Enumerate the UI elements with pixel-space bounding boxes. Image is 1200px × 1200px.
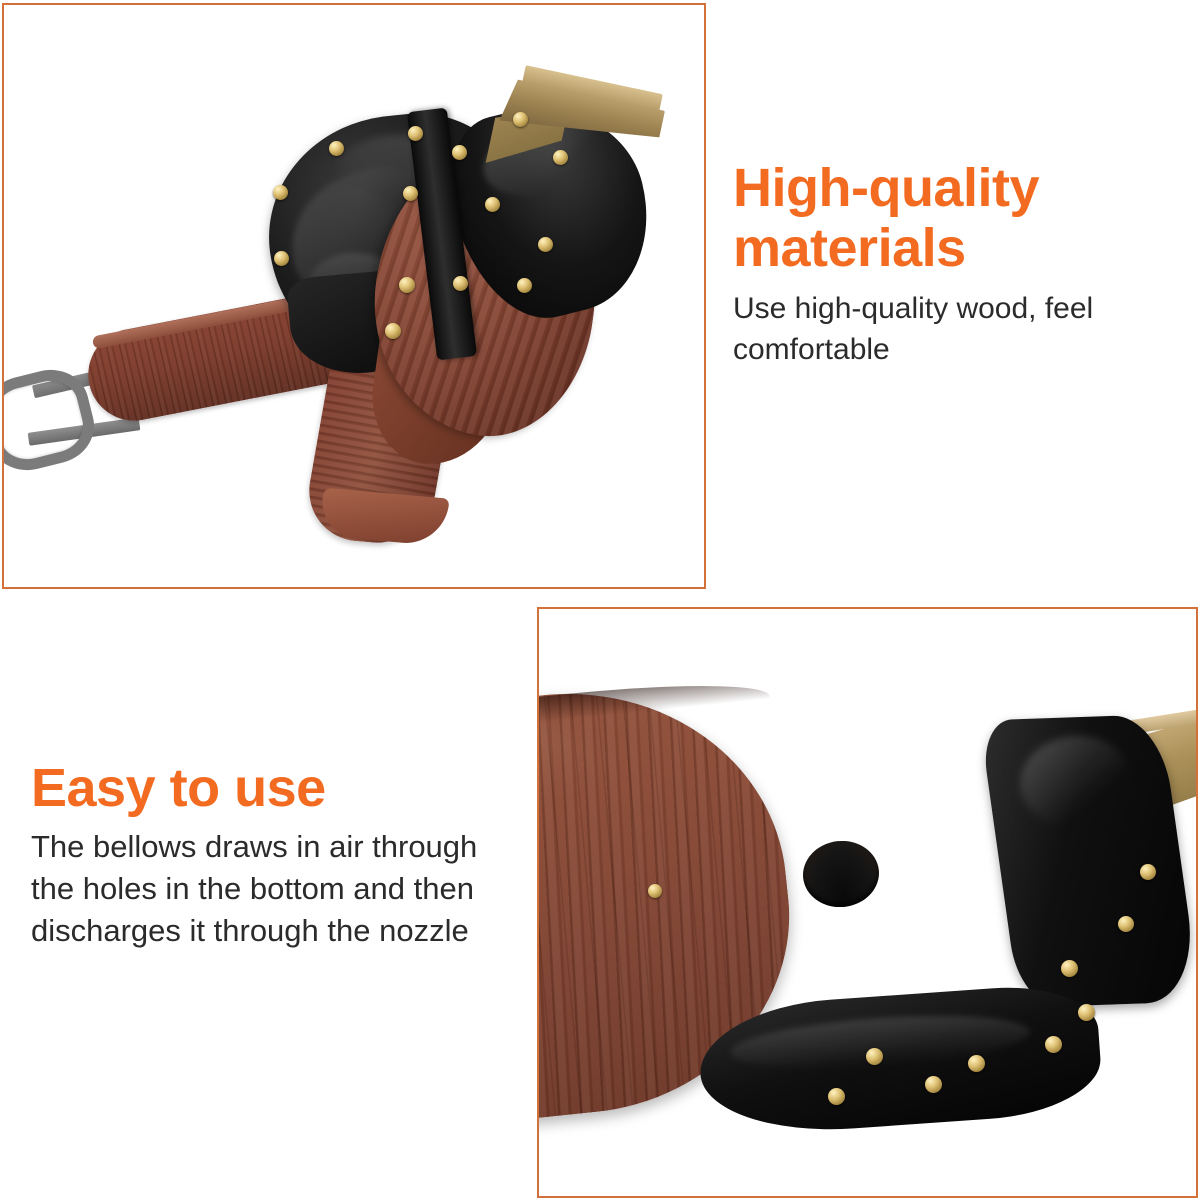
brass-stud bbox=[452, 145, 467, 160]
feature-text-easy-to-use: Easy to use The bellows draws in air thr… bbox=[31, 758, 511, 952]
bellows-back-board-photo bbox=[539, 609, 1196, 1196]
brass-stud bbox=[1045, 1036, 1062, 1053]
bellows-angled-view-photo bbox=[4, 5, 704, 587]
brass-stud bbox=[403, 186, 418, 201]
photo-panel-materials bbox=[2, 3, 706, 589]
feature-text-materials: High-quality materials Use high-quality … bbox=[733, 158, 1173, 370]
infographic-canvas: High-quality materials Use high-quality … bbox=[0, 0, 1200, 1200]
brass-stud bbox=[329, 141, 344, 156]
brass-stud bbox=[866, 1048, 883, 1065]
brass-stud bbox=[925, 1076, 942, 1093]
brass-stud bbox=[399, 277, 415, 293]
brass-stud bbox=[1061, 960, 1078, 977]
brass-stud bbox=[828, 1088, 845, 1105]
brass-stud bbox=[485, 197, 500, 212]
brass-stud bbox=[538, 237, 553, 252]
brass-stud bbox=[385, 323, 401, 339]
brass-stud bbox=[553, 150, 568, 165]
feature-headline-materials: High-quality materials bbox=[733, 158, 1173, 278]
brass-stud bbox=[1140, 864, 1156, 880]
brass-stud bbox=[274, 251, 289, 266]
feature-headline-easy-to-use: Easy to use bbox=[31, 758, 511, 818]
brass-stud bbox=[273, 185, 288, 200]
air-intake-hole bbox=[800, 837, 882, 911]
photo-panel-easy-to-use bbox=[537, 607, 1198, 1198]
wooden-handle-lower-edge bbox=[316, 488, 450, 546]
brass-stud bbox=[968, 1055, 985, 1072]
feature-body-easy-to-use: The bellows draws in air through the hol… bbox=[31, 826, 511, 952]
brass-stud bbox=[1078, 1004, 1095, 1021]
brass-stud bbox=[648, 884, 662, 898]
brass-stud bbox=[453, 276, 468, 291]
brass-stud bbox=[517, 278, 532, 293]
brass-stud bbox=[513, 112, 528, 127]
brass-stud bbox=[1118, 916, 1134, 932]
brass-stud bbox=[408, 126, 423, 141]
feature-body-materials: Use high-quality wood, feel comfortable bbox=[733, 288, 1173, 370]
